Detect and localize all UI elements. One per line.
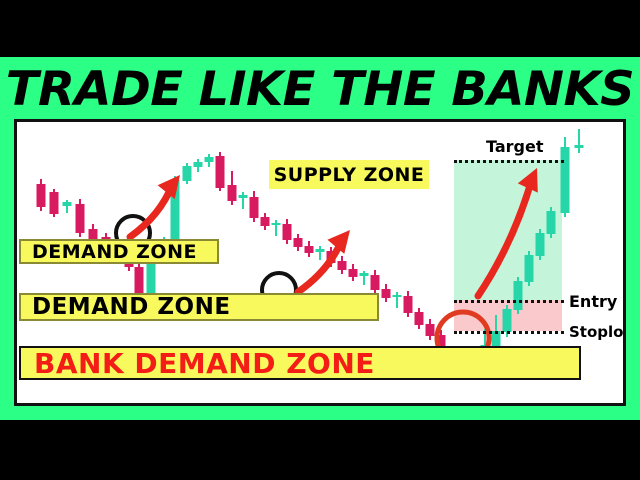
candle-body (382, 289, 391, 298)
candle-body (50, 192, 59, 214)
page-title: TRADE LIKE THE BANKS (0, 60, 640, 118)
candle-body (37, 184, 46, 207)
candle-body (514, 281, 523, 310)
candle-body (316, 249, 325, 252)
demand-zone-label-1: DEMAND ZONE (19, 239, 219, 264)
candle-body (503, 309, 512, 332)
candle-body (216, 156, 225, 188)
candle-body (338, 261, 347, 270)
candle-body (239, 195, 248, 198)
candle-body (194, 162, 203, 167)
candle-body (76, 204, 85, 233)
candle-body (63, 202, 72, 206)
candle-body (183, 166, 192, 181)
candle-body (575, 145, 584, 148)
stoploss-label: Stoploss (569, 323, 626, 341)
demand-zone-label-2: DEMAND ZONE (19, 293, 379, 321)
stoploss-level-line (454, 331, 564, 334)
candle-body (371, 275, 380, 290)
candle-body (393, 295, 402, 297)
candle-body (525, 255, 534, 282)
arrow-target (478, 179, 532, 296)
candle-body (305, 246, 314, 253)
candle-body (349, 269, 358, 277)
bank-demand-zone-label: BANK DEMAND ZONE (19, 346, 581, 380)
chart-inner: Target Entry Stoploss SUPPLY ZONE DEMAND… (17, 122, 623, 403)
target-level-line (454, 160, 564, 163)
supply-zone-label: SUPPLY ZONE (269, 160, 429, 189)
youtube-thumbnail: TRADE LIKE THE BANKS Target Entry Stoplo… (0, 0, 640, 480)
candle-body (561, 147, 570, 213)
candle-body (272, 223, 281, 225)
candle-body (426, 324, 435, 336)
candle-body (283, 224, 292, 240)
candle-body (261, 217, 270, 226)
candle-body (415, 312, 424, 325)
entry-level-line (454, 300, 564, 303)
candle-body (294, 238, 303, 247)
candle-body (547, 211, 556, 234)
candlestick-chart: Target Entry Stoploss SUPPLY ZONE DEMAND… (14, 119, 626, 406)
candle-body (205, 157, 214, 162)
candle-body (360, 273, 369, 276)
target-label: Target (486, 137, 544, 156)
candle-body (89, 229, 98, 239)
entry-label: Entry (569, 292, 617, 311)
candle-body (536, 233, 545, 256)
candle-body (250, 197, 259, 218)
candle-body (135, 267, 144, 295)
candle-body (228, 185, 237, 201)
candle-body (404, 296, 413, 313)
